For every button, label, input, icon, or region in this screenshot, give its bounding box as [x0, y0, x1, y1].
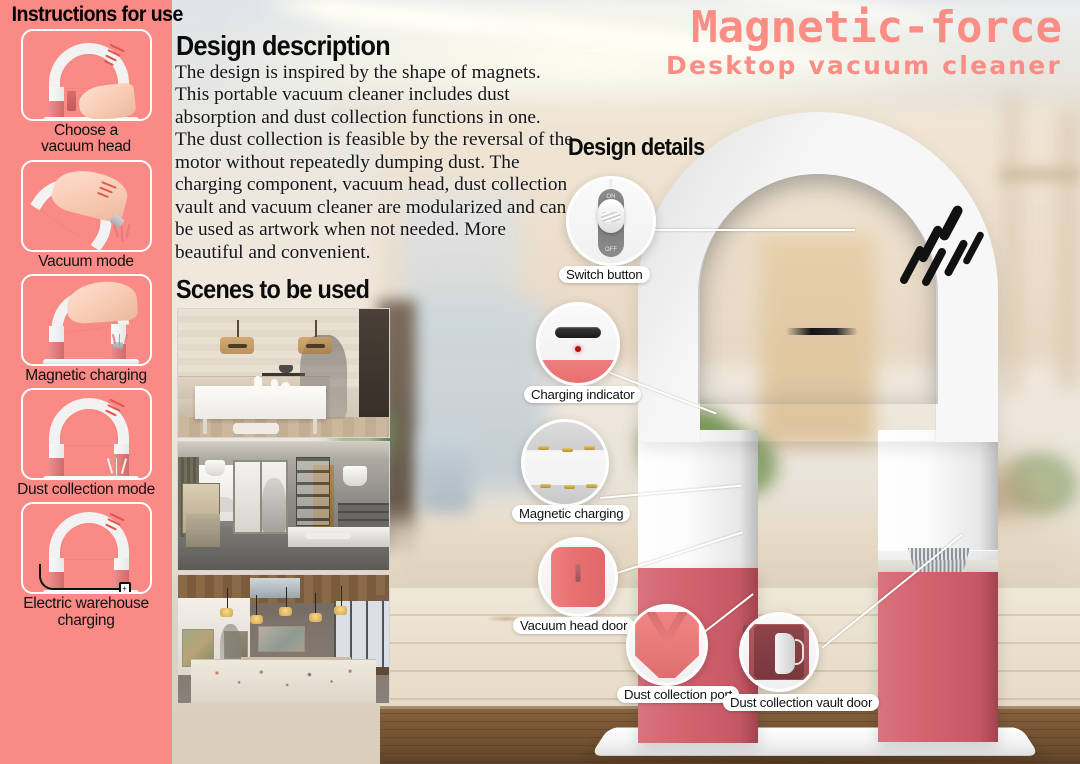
callout-magnetic-charging[interactable]: Magnetic charging — [521, 419, 609, 507]
switch-button-detail-image — [566, 176, 656, 266]
led-indicator-icon — [575, 346, 581, 352]
instruction-step-2[interactable]: Vacuum mode — [6, 160, 166, 270]
door-slot-icon — [576, 564, 581, 582]
instructions-heading: Instructions for use — [12, 0, 161, 25]
switch-knob-icon — [598, 199, 625, 233]
instructions-sidebar: Instructions for use — [0, 0, 172, 764]
design-description-heading: Design description — [176, 32, 390, 60]
arch-vent-line — [786, 328, 858, 335]
step-3-label-line1: Magnetic charging — [6, 368, 166, 384]
scene-photo-studio — [177, 441, 390, 571]
step-4-illustration — [21, 388, 152, 480]
instruction-step-1[interactable]: Choose a vacuum head — [6, 29, 166, 156]
product-render — [590, 110, 1060, 670]
callout-label-magnetic-charging: Magnetic charging — [512, 505, 630, 522]
design-details-heading: Design details — [568, 136, 704, 160]
vacuum-head-door-detail-image — [538, 537, 618, 617]
usb-port-icon — [555, 327, 601, 338]
right-leg-white-body — [878, 430, 998, 560]
step-5-label-line2: charging — [6, 613, 166, 629]
callout-label-vacuum-head-door: Vacuum head door — [513, 617, 634, 634]
step-1-illustration — [21, 29, 152, 121]
power-cord-icon — [39, 564, 123, 590]
callout-vacuum-head-door[interactable]: Vacuum head door — [538, 537, 618, 617]
dust-collection-vault-module — [878, 572, 998, 742]
design-presentation-board: Magnetic-force Desktop vacuum cleaner De… — [0, 0, 1080, 764]
plug-icon: + — [119, 582, 131, 594]
scene-photo-list — [177, 308, 390, 707]
magnetic-charging-detail-image — [521, 419, 609, 507]
callout-switch-button[interactable]: Switch button — [566, 176, 656, 266]
design-description-body: The design is inspired by the shape of m… — [175, 62, 575, 264]
step-3-illustration — [21, 274, 152, 366]
step-1-label-line1: Choose a — [6, 123, 166, 139]
title-block: Magnetic-force Desktop vacuum cleaner — [666, 6, 1062, 80]
scene-photo-loft — [177, 574, 390, 704]
callout-label-charging-indicator: Charging indicator — [524, 386, 641, 403]
step-2-illustration — [21, 160, 152, 252]
dust-collection-port-detail-image — [626, 604, 708, 686]
callout-charging-indicator[interactable]: Charging indicator — [536, 302, 620, 386]
callout-label-dust-collection-vault-door: Dust collection vault door — [723, 694, 879, 711]
scenes-heading: Scenes to be used — [176, 276, 369, 302]
instruction-step-4[interactable]: Dust collection mode — [6, 388, 166, 498]
instruction-step-3[interactable]: Magnetic charging — [6, 274, 166, 384]
callout-label-switch-button: Switch button — [559, 266, 650, 283]
left-leg-white-body — [638, 430, 758, 570]
hand-icon — [65, 279, 138, 324]
scene-photo-kitchen — [177, 308, 390, 438]
vault-disc-icon — [775, 633, 796, 674]
leader-line-switch-button — [650, 229, 855, 231]
step-5-label-line1: Electric warehouse — [6, 596, 166, 612]
step-1-label-line2: vacuum head — [6, 139, 166, 155]
page-subtitle: Desktop vacuum cleaner — [666, 52, 1062, 80]
airflow-marks-icon — [870, 202, 1000, 332]
callout-dust-collection-vault-door[interactable]: Dust collection vault door — [739, 612, 819, 692]
dust-collection-vault-door-detail-image — [739, 612, 819, 692]
page-title: Magnetic-force — [666, 6, 1062, 50]
charging-indicator-detail-image — [536, 302, 620, 386]
instruction-step-5[interactable]: + Electric warehouse charging — [6, 502, 166, 629]
step-4-label-line1: Dust collection mode — [6, 482, 166, 498]
step-5-illustration: + — [21, 502, 152, 594]
step-2-label-line1: Vacuum mode — [6, 254, 166, 270]
callout-label-dust-collection-port: Dust collection port — [617, 686, 739, 703]
callout-dust-collection-port[interactable]: Dust collection port — [626, 604, 708, 686]
